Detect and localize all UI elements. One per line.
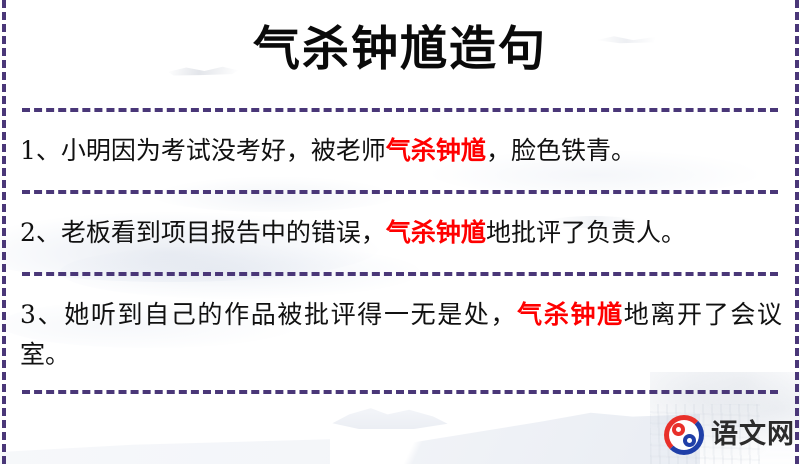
- sentence-index-3: 3、: [20, 300, 64, 329]
- dashed-separator-2: [22, 190, 778, 194]
- site-name-label: 语文网: [711, 420, 795, 450]
- dashed-separator-1: [22, 108, 778, 112]
- emblem-ring: [664, 415, 704, 455]
- mist-wisp-upper: [150, 176, 400, 212]
- highlight-idiom-1: 气杀钟馗: [386, 136, 486, 165]
- mountain-slope-right: [280, 400, 700, 464]
- sentence-item-3: 3、她听到自己的作品被批评得一无是处，气杀钟馗地离开了会议室。: [20, 295, 782, 375]
- sentence-text-before-1: 小明因为考试没考好，被老师: [61, 136, 386, 165]
- highlight-idiom-3: 气杀钟馗: [517, 300, 624, 329]
- page-title: 气杀钟馗造句: [0, 18, 800, 82]
- yinyang-circle-icon: [664, 415, 704, 455]
- sentence-text-before-3: 她听到自己的作品被批评得一无是处，: [64, 300, 517, 329]
- sentence-text-after-1: ，脸色铁青。: [486, 136, 636, 165]
- worksheet-page: 气杀钟馗造句 1、小明因为考试没考好，被老师气杀钟馗，脸色铁青。 2、老板看到项…: [0, 0, 800, 464]
- boat-silhouette: [330, 404, 450, 430]
- mountain-slope-left: [0, 424, 330, 464]
- dashed-separator-3: [22, 272, 778, 276]
- sentence-index-1: 1、: [20, 136, 61, 165]
- sentence-item-1: 1、小明因为考试没考好，被老师气杀钟馗，脸色铁青。: [20, 131, 782, 171]
- dashed-separator-4: [22, 390, 778, 394]
- sentence-text-before-2: 老板看到项目报告中的错误，: [61, 218, 386, 247]
- sentence-item-2: 2、老板看到项目报告中的错误，气杀钟馗地批评了负责人。: [20, 213, 782, 253]
- sentence-text-after-2: 地批评了负责人。: [486, 218, 686, 247]
- highlight-idiom-2: 气杀钟馗: [386, 218, 486, 247]
- sentence-index-2: 2、: [20, 218, 61, 247]
- site-watermark-logo: 语文网: [664, 410, 794, 460]
